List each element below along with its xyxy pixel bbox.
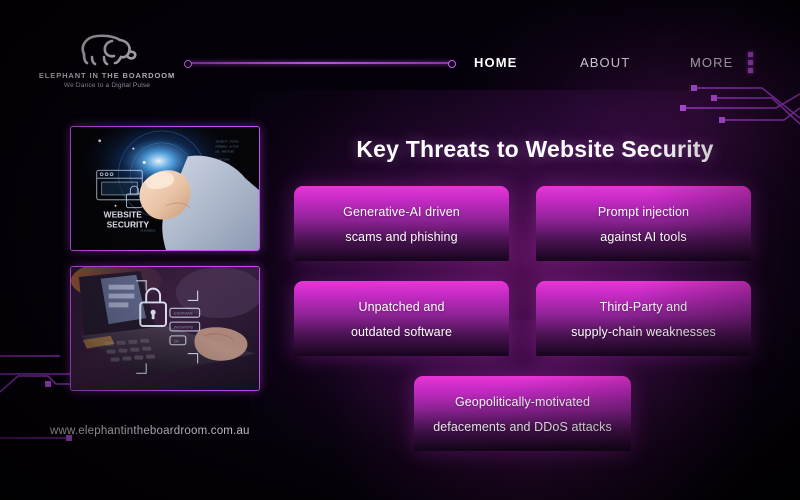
brand-logo[interactable]: ELEPHANT IN THE BOARDOOM We Dance to a D… [32, 28, 182, 89]
brand-name: ELEPHANT IN THE BOARDOOM [32, 71, 182, 80]
svg-text:SSL VERIFIED: SSL VERIFIED [215, 150, 234, 154]
svg-text:PASSWORD: PASSWORD [174, 326, 194, 330]
circuit-decoration-top-right [680, 78, 800, 140]
website-security-image: SECURITY STATUS FIREWALL ACTIVE SSL VERI… [71, 127, 259, 250]
threat-card-line-2: against AI tools [600, 225, 686, 250]
svg-text:USERNAME: USERNAME [174, 312, 194, 316]
threat-card[interactable]: Prompt injection against AI tools [536, 186, 751, 261]
threat-card-line-2: defacements and DDoS attacks [433, 415, 612, 440]
header-divider [188, 62, 452, 64]
svg-text:WEBSITE: WEBSITE [104, 210, 143, 220]
threat-card[interactable]: Third-Party and supply-chain weaknesses [536, 281, 751, 356]
threat-card-line-1: Unpatched and [358, 295, 444, 320]
threat-card-line-1: Prompt injection [598, 200, 689, 225]
threat-card[interactable]: Unpatched and outdated software [294, 281, 509, 356]
kebab-dot [748, 60, 753, 65]
kebab-dot [748, 52, 753, 57]
threat-card-line-1: Geopolitically-motivated [455, 390, 590, 415]
kebab-dot [748, 68, 753, 73]
brand-tagline: We Dance to a Digital Pulse [32, 82, 182, 89]
threat-card-line-2: outdated software [351, 320, 452, 345]
nav-item-more[interactable]: MORE [690, 55, 733, 70]
svg-text:SECURITY: SECURITY [107, 219, 150, 229]
kebab-menu-icon[interactable] [748, 52, 753, 73]
page-title: Key Threats to Website Security [300, 136, 770, 163]
threat-card[interactable]: Generative-AI driven scams and phishing [294, 186, 509, 261]
threat-card-line-1: Generative-AI driven [343, 200, 460, 225]
svg-text:SECURITY STATUS: SECURITY STATUS [215, 140, 239, 144]
nav-item-about[interactable]: ABOUT [580, 55, 630, 70]
threat-card-line-2: scams and phishing [345, 225, 457, 250]
elephant-icon [74, 28, 140, 68]
website-security-thumbnail[interactable]: SECURITY STATUS FIREWALL ACTIVE SSL VERI… [70, 126, 260, 251]
laptop-padlock-thumbnail[interactable]: USERNAME PASSWORD OK [70, 266, 260, 391]
threat-card[interactable]: Geopolitically-motivated defacements and… [414, 376, 631, 451]
site-url[interactable]: www.elephantintheboardroom.com.au [50, 425, 250, 437]
slide-canvas: ELEPHANT IN THE BOARDOOM We Dance to a D… [0, 0, 800, 500]
laptop-padlock-image: USERNAME PASSWORD OK [71, 267, 259, 390]
nav-item-home[interactable]: HOME [474, 55, 517, 70]
svg-text:FIREWALL ACTIVE: FIREWALL ACTIVE [215, 145, 239, 149]
threat-card-line-1: Third-Party and [600, 295, 688, 320]
svg-text:OK: OK [174, 339, 180, 343]
threat-card-line-2: supply-chain weaknesses [571, 320, 716, 345]
